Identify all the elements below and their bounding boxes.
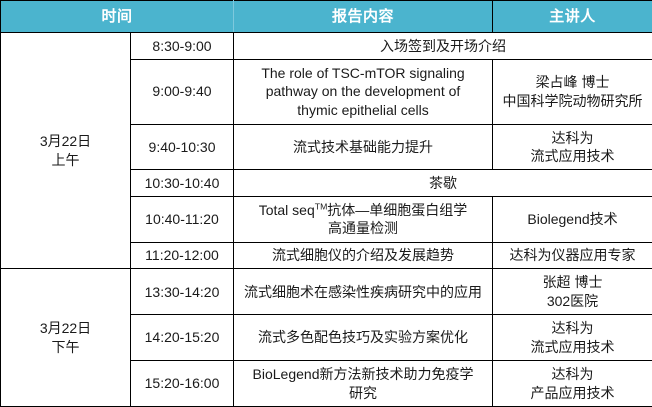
speaker-affiliation: 流式应用技术	[497, 147, 648, 165]
time-slot: 9:00-9:40	[131, 59, 234, 124]
table-row: 3月22日 下午 13:30-14:20 流式细胞术在感染性疾病研究中的应用 张…	[1, 269, 652, 315]
speaker-name: 达科为仪器应用专家	[497, 246, 648, 264]
speaker-info: Biolegend技术	[493, 197, 652, 243]
speaker-affiliation: 流式应用技术	[497, 338, 648, 356]
topic-text: Total seqTM抗体—单细胞蛋白组学 高通量检测	[234, 197, 493, 243]
speaker-info: 达科为 产品应用技术	[493, 361, 652, 407]
topic-text: The role of TSC-mTOR signaling pathway o…	[234, 59, 493, 124]
session-period: 上午	[5, 151, 126, 169]
speaker-name: Biolegend技术	[497, 210, 648, 228]
table-row: 3月22日 上午 8:30-9:00 入场签到及开场介绍	[1, 33, 652, 60]
topic-text: 入场签到及开场介绍	[234, 33, 652, 60]
time-slot: 13:30-14:20	[131, 269, 234, 315]
topic-line: 高通量检测	[238, 219, 488, 237]
time-slot: 9:40-10:30	[131, 124, 234, 170]
time-slot: 10:40-11:20	[131, 197, 234, 243]
time-slot: 11:20-12:00	[131, 242, 234, 269]
speaker-info: 张超 博士 302医院	[493, 269, 652, 315]
session-label-morning: 3月22日 上午	[1, 33, 131, 269]
topic-text: BioLegend新方法新技术助力免疫学 研究	[234, 361, 493, 407]
session-date: 3月22日	[5, 319, 126, 337]
table-header: 时间 报告内容 主讲人	[1, 1, 652, 33]
topic-line-rest: 抗体—单细胞蛋白组学	[327, 202, 467, 218]
topic-text: 流式多色配色技巧及实验方案优化	[234, 315, 493, 361]
topic-line: 研究	[238, 384, 488, 402]
speaker-affiliation: 302医院	[497, 292, 648, 310]
session-period: 下午	[5, 338, 126, 356]
trademark-superscript: TM	[315, 201, 328, 211]
column-header-time: 时间	[1, 1, 234, 33]
table-header-row: 时间 报告内容 主讲人	[1, 1, 652, 33]
speaker-info: 达科为 流式应用技术	[493, 124, 652, 170]
speaker-name: 张超 博士	[497, 273, 648, 291]
time-slot: 10:30-10:40	[131, 170, 234, 197]
speaker-name: 达科为	[497, 365, 648, 383]
conference-schedule-table: 时间 报告内容 主讲人 3月22日 上午 8:30-9:00 入场签到及开场介绍…	[0, 0, 652, 407]
schedule-table-container: 时间 报告内容 主讲人 3月22日 上午 8:30-9:00 入场签到及开场介绍…	[0, 0, 652, 407]
speaker-info: 达科为仪器应用专家	[493, 242, 652, 269]
topic-product-name: Total seq	[259, 202, 315, 218]
topic-line: The role of TSC-mTOR signaling	[238, 64, 488, 82]
speaker-affiliation: 产品应用技术	[497, 384, 648, 402]
topic-line: BioLegend新方法新技术助力免疫学	[238, 365, 488, 383]
time-slot: 14:20-15:20	[131, 315, 234, 361]
topic-text: 茶歇	[234, 170, 652, 197]
time-slot: 15:20-16:00	[131, 361, 234, 407]
time-slot: 8:30-9:00	[131, 33, 234, 60]
speaker-info: 达科为 流式应用技术	[493, 315, 652, 361]
table-body: 3月22日 上午 8:30-9:00 入场签到及开场介绍 9:00-9:40 T…	[1, 33, 652, 407]
session-label-afternoon: 3月22日 下午	[1, 269, 131, 407]
topic-text: 流式细胞术在感染性疾病研究中的应用	[234, 269, 493, 315]
speaker-affiliation: 中国科学院动物研究所	[497, 92, 648, 110]
topic-line: pathway on the development of	[238, 82, 488, 100]
speaker-info: 梁占峰 博士 中国科学院动物研究所	[493, 59, 652, 124]
column-header-speaker: 主讲人	[493, 1, 652, 33]
speaker-name: 梁占峰 博士	[497, 73, 648, 91]
topic-line: Total seqTM抗体—单细胞蛋白组学	[238, 201, 488, 219]
topic-text: 流式技术基础能力提升	[234, 124, 493, 170]
topic-text: 流式细胞仪的介绍及发展趋势	[234, 242, 493, 269]
topic-line: thymic epithelial cells	[238, 101, 488, 119]
column-header-topic: 报告内容	[234, 1, 493, 33]
speaker-name: 达科为	[497, 319, 648, 337]
session-date: 3月22日	[5, 132, 126, 150]
speaker-name: 达科为	[497, 129, 648, 147]
